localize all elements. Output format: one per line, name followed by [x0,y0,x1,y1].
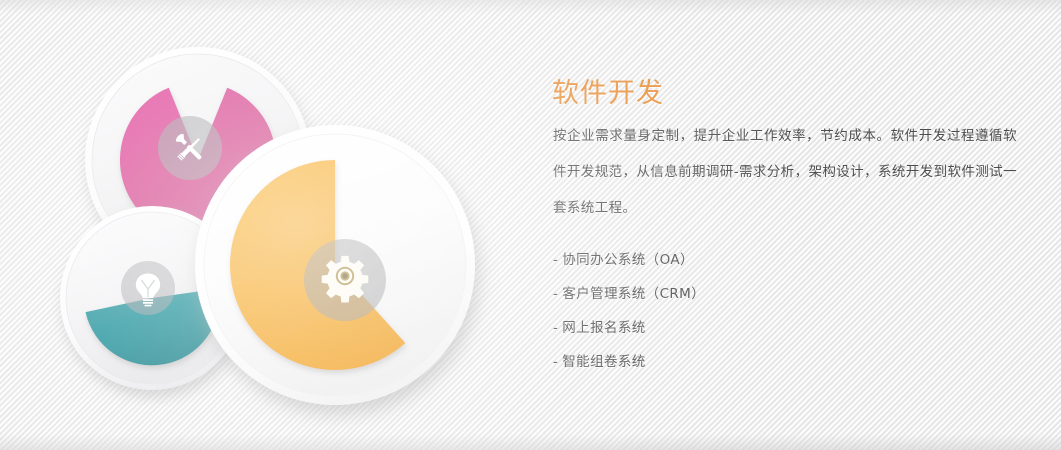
list-bullet: - [553,243,558,277]
list-item: -网上报名系统 [553,311,993,345]
list-bullet: - [553,345,558,379]
description-paragraph: 按企业需求量身定制，提升企业工作效率，节约成本。软件开发过程遵循软件开发规范，从… [553,118,1017,226]
list-item: -智能组卷系统 [553,345,993,379]
feature-list: -协同办公系统（OA） -客户管理系统（CRM） -网上报名系统 -智能组卷系统 [553,243,993,379]
list-item-label: 协同办公系统（OA） [562,252,694,268]
software-development-banner: 软件开发 按企业需求量身定制，提升企业工作效率，节约成本。软件开发过程遵循软件开… [0,0,1061,450]
gear-icon [322,256,369,303]
list-item: -客户管理系统（CRM） [553,277,993,311]
settings-circle [195,125,475,405]
list-item: -协同办公系统（OA） [553,243,993,277]
list-item-label: 智能组卷系统 [562,354,645,370]
pie-circles-illustration [0,0,540,450]
software-development-copy: 软件开发 按企业需求量身定制，提升企业工作效率，节约成本。软件开发过程遵循软件开… [552,0,1022,450]
list-item-label: 网上报名系统 [562,320,645,336]
list-item-label: 客户管理系统（CRM） [562,286,705,302]
page-title: 软件开发 [552,77,664,111]
list-bullet: - [553,311,558,345]
list-bullet: - [553,277,558,311]
